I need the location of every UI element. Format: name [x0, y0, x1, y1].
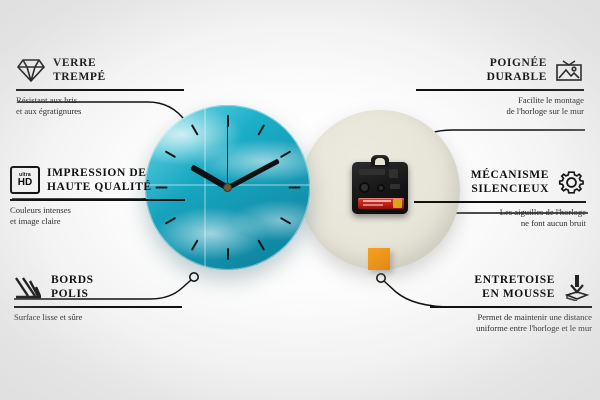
feature-title-line2: TREMPÉ	[53, 70, 106, 84]
feature-desc-line2: de l'horloge sur le mur	[416, 106, 584, 118]
feature-title-line1: VERRE	[53, 56, 106, 70]
divider	[16, 89, 184, 91]
battery-label	[363, 200, 391, 202]
feature-title-line2: SILENCIEUX	[414, 182, 549, 196]
feature-title-line1: POIGNÉE	[416, 56, 547, 70]
ultra-hd-icon: ultra HD	[10, 165, 40, 195]
feature-impression-haute-qualite: ultra HD IMPRESSION DE HAUTE QUALITÉ Cou…	[10, 165, 185, 228]
feature-title-line1: BORDS	[51, 273, 94, 287]
connector-dot-bords	[190, 273, 198, 281]
feature-title-line1: MÉCANISME	[414, 168, 549, 182]
feature-entretoise-en-mousse: ENTRETOISE EN MOUSSE Permet de maintenir…	[430, 272, 592, 335]
feature-title-line1: ENTRETOISE	[430, 273, 555, 287]
feature-title-line2: DURABLE	[416, 70, 547, 84]
feature-desc-line1: Les aiguilles de l'horloge	[414, 207, 586, 219]
feature-desc-line2: ne font aucun bruit	[414, 218, 586, 230]
foam-spacer-icon	[562, 272, 592, 302]
divider	[416, 89, 584, 91]
feature-desc-line1: Surface lisse et sûre	[14, 312, 182, 324]
quartz-movement	[352, 162, 408, 214]
feature-poignee-durable: POIGNÉE DURABLE Facilite le montage de l…	[416, 55, 584, 118]
feature-mecanisme-silencieux: MÉCANISME SILENCIEUX Les aiguilles de l'…	[414, 167, 586, 230]
feature-verre-trempe: VERRE TREMPÉ Résistant aux bris et aux é…	[16, 55, 184, 118]
movement-detail	[389, 169, 398, 178]
diamond-icon	[16, 55, 46, 85]
divider	[414, 201, 586, 203]
foam-spacer	[368, 248, 390, 270]
feature-desc-line2: uniforme entre l'horloge et le mur	[430, 323, 592, 335]
feature-bords-polis: BORDS POLIS Surface lisse et sûre	[14, 272, 182, 323]
gear-icon	[556, 167, 586, 197]
feature-title-line2: HAUTE QUALITÉ	[47, 180, 152, 194]
feature-title-line1: IMPRESSION DE	[47, 166, 152, 180]
feature-desc-line2: et image claire	[10, 216, 185, 228]
divider	[10, 199, 185, 201]
battery	[358, 198, 404, 209]
infographic-canvas: VERRE TREMPÉ Résistant aux bris et aux é…	[0, 0, 600, 400]
divider	[14, 306, 182, 308]
polished-edges-icon	[14, 272, 44, 302]
ultra-hd-big-label: HD	[18, 178, 32, 188]
movement-detail	[390, 184, 400, 189]
feature-desc-line1: Couleurs intenses	[10, 205, 185, 217]
hanger-hole	[375, 158, 385, 165]
feature-desc-line1: Permet de maintenir une distance	[430, 312, 592, 324]
feature-desc-line1: Facilite le montage	[416, 95, 584, 107]
battery-terminal	[393, 199, 402, 208]
feature-title-line2: POLIS	[51, 287, 94, 301]
feature-title-line2: EN MOUSSE	[430, 287, 555, 301]
movement-detail	[359, 169, 385, 175]
battery-label	[363, 204, 383, 206]
feature-desc-line1: Résistant aux bris	[16, 95, 184, 107]
movement-dial	[359, 182, 370, 193]
feature-desc-line2: et aux égratignures	[16, 106, 184, 118]
connector-dot-entretoise	[377, 274, 385, 282]
movement-dial	[377, 184, 385, 192]
picture-hanger-icon	[554, 55, 584, 85]
divider	[430, 306, 592, 308]
